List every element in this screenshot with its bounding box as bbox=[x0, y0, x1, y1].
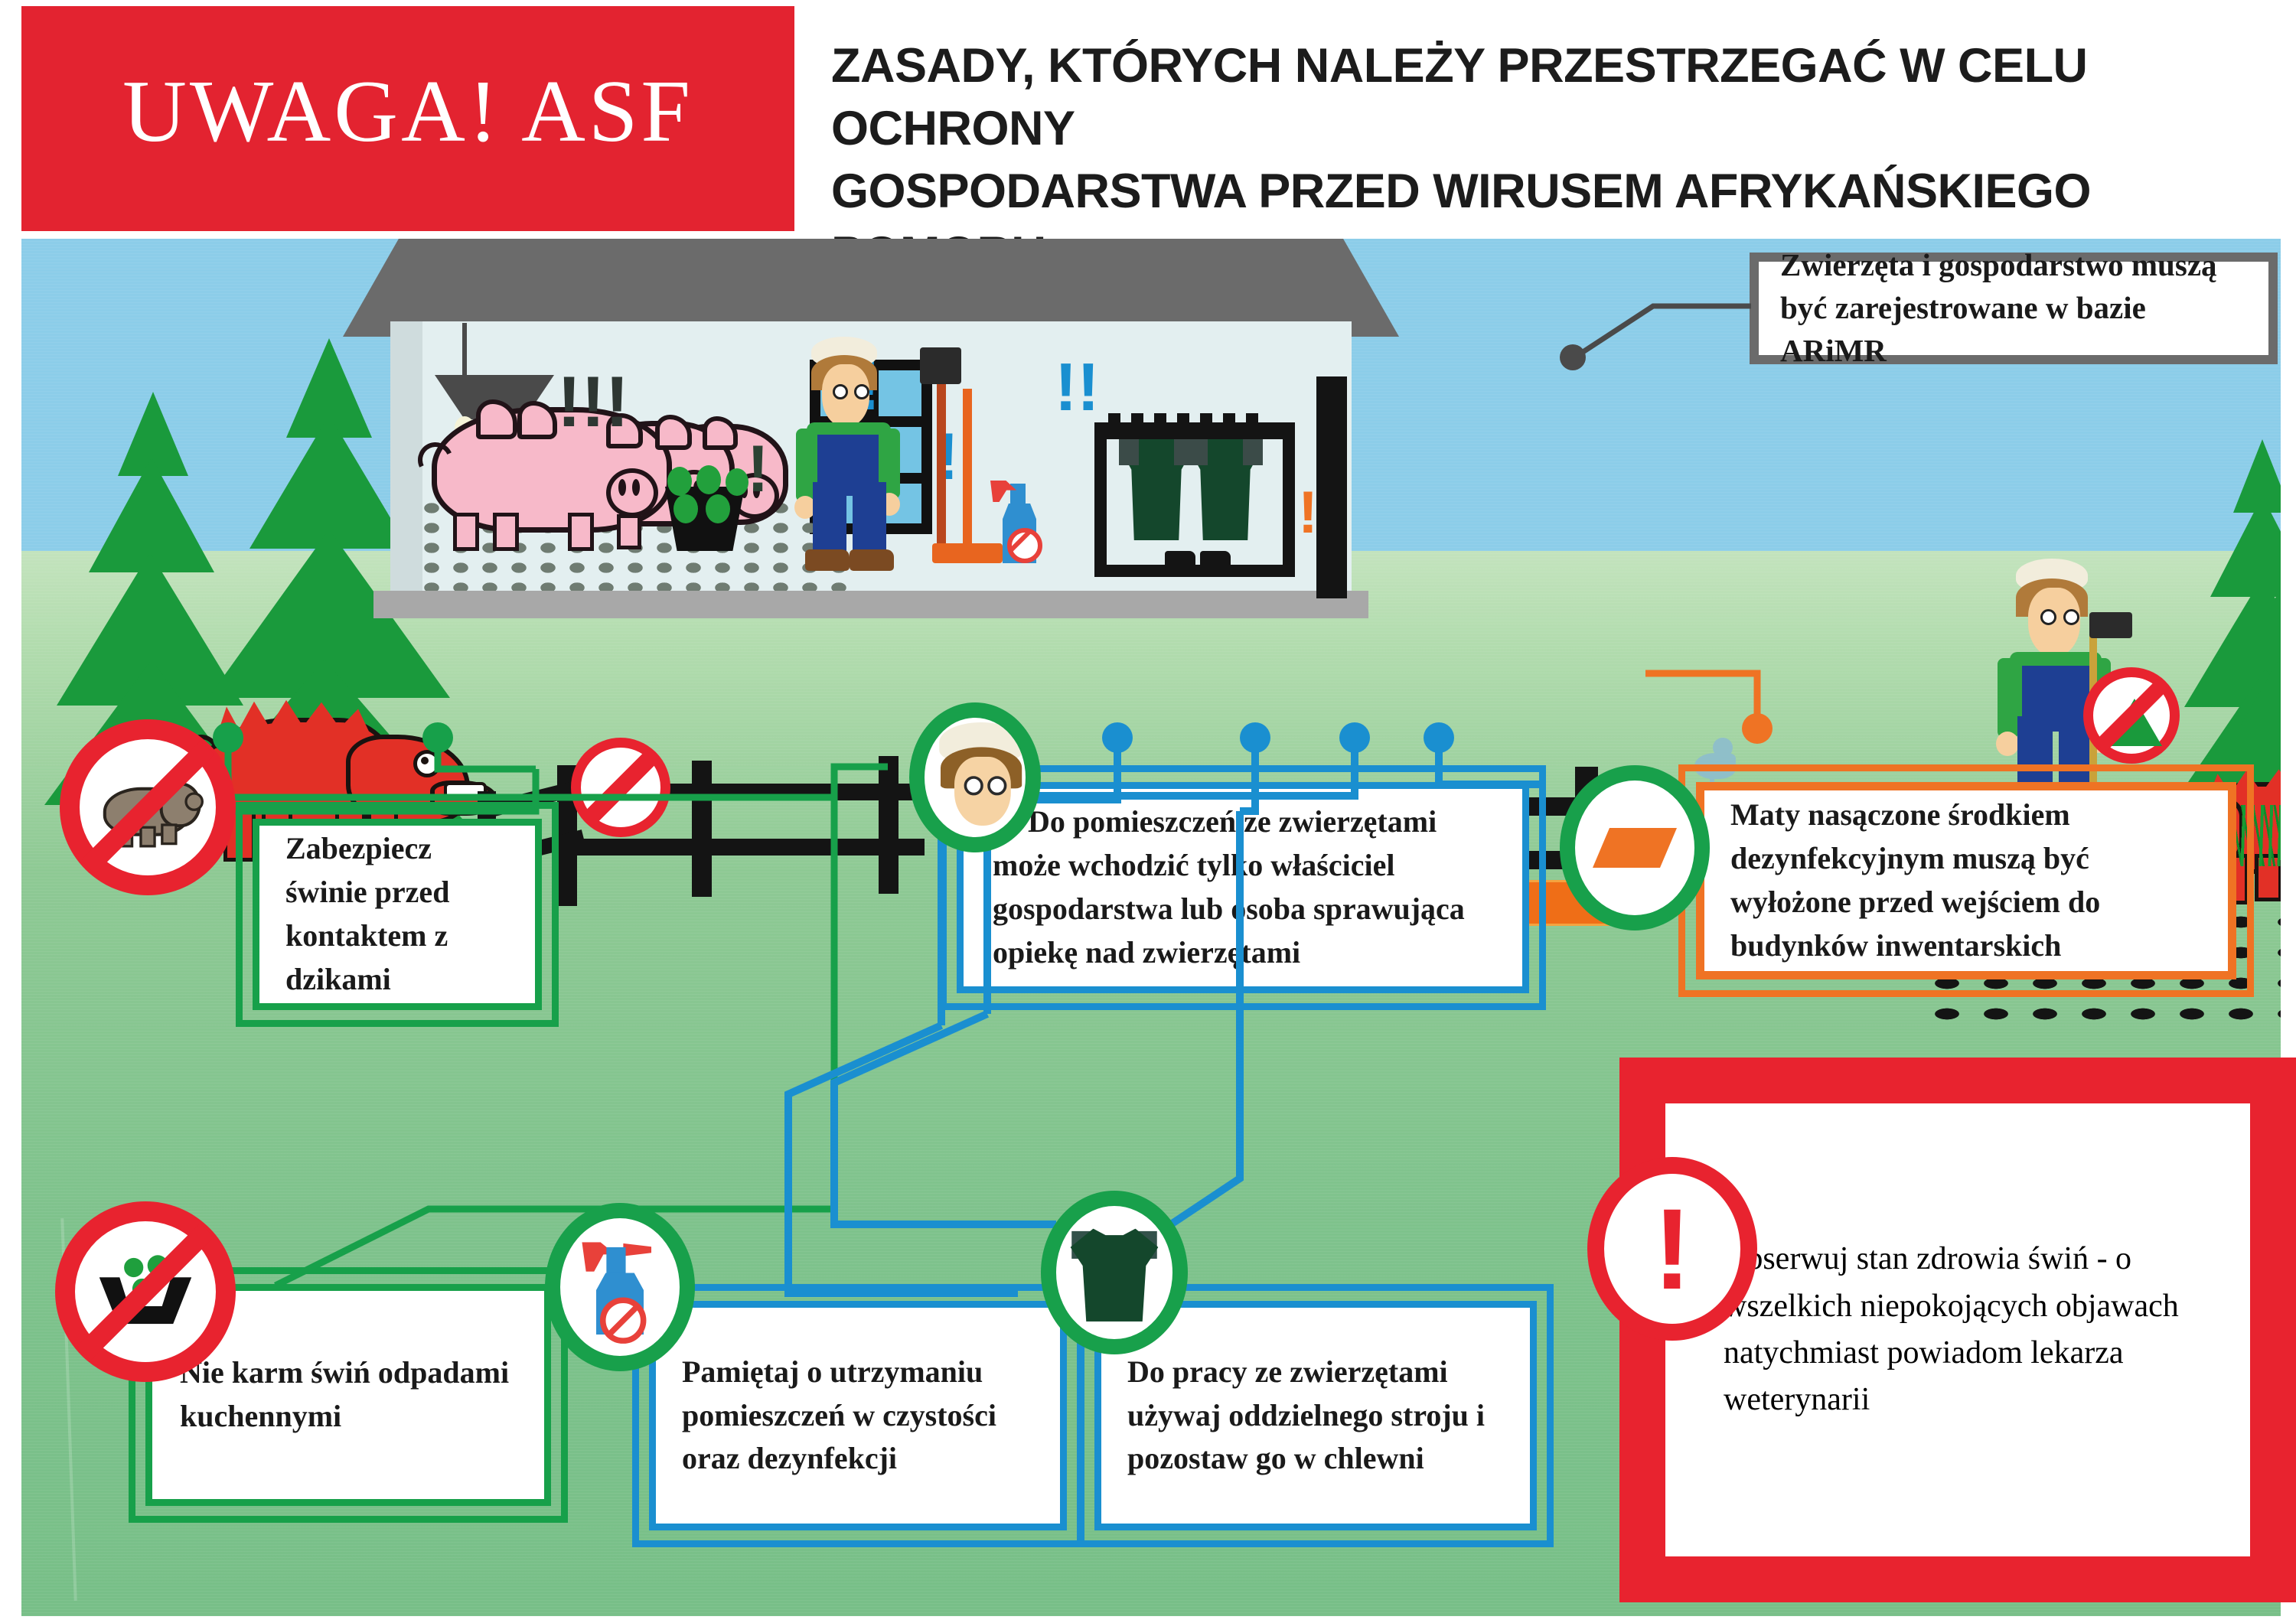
connector-dot-blue bbox=[1339, 722, 1370, 753]
exclamation-icon: ! bbox=[1587, 1157, 1757, 1341]
connector-dot-blue bbox=[1424, 722, 1454, 753]
connector-lines bbox=[0, 0, 2296, 1623]
face-glyph bbox=[930, 722, 1021, 833]
farmer-face-icon bbox=[909, 702, 1041, 852]
exclamation-glyph: ! bbox=[1653, 1203, 1691, 1295]
work-shirt-icon bbox=[1041, 1191, 1188, 1354]
connector-dot-orange bbox=[1742, 713, 1773, 744]
mat-glyph bbox=[1593, 828, 1677, 868]
asf-poster: UWAGA! ASF ZASADY, KTÓRYCH NALEŻY PRZEST… bbox=[0, 0, 2296, 1623]
connector-dot-green bbox=[422, 722, 453, 753]
disinfection-mat-icon bbox=[1560, 765, 1710, 930]
connector-dot-blue bbox=[1240, 722, 1270, 753]
connector-dot-green bbox=[213, 722, 243, 753]
no-wild-boar-icon bbox=[60, 719, 236, 895]
no-kitchen-waste-icon bbox=[55, 1201, 236, 1382]
spray-glyph bbox=[578, 1236, 661, 1338]
connector-dot-gray bbox=[1560, 344, 1586, 370]
spray-bottle-icon bbox=[545, 1203, 695, 1371]
shirt-glyph bbox=[1071, 1222, 1159, 1322]
connector-dot-blue bbox=[1102, 722, 1133, 753]
